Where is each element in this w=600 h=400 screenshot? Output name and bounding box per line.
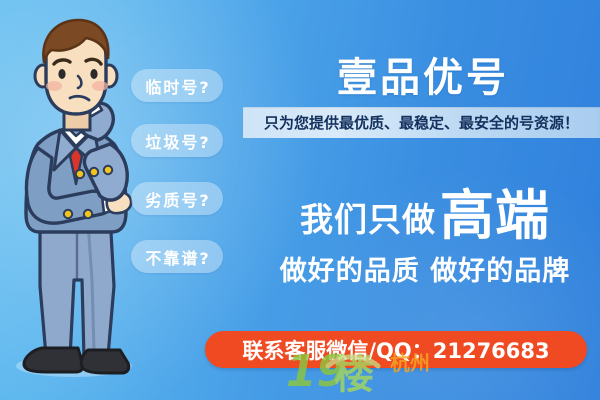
question-pill-label: 不靠谱? xyxy=(143,245,210,269)
contact-label: 联系客服微信/QQ：21276683 xyxy=(242,335,549,365)
question-pill-junk: 垃圾号? xyxy=(131,124,223,157)
question-pill-inferior: 劣质号? xyxy=(131,182,223,215)
question-pill-unreliable: 不靠谱? xyxy=(131,240,223,273)
brand-subtitle-band: 只为您提供最优质、最稳定、最安全的号资源！ xyxy=(243,107,600,138)
brand-title: 壹品优号 xyxy=(243,46,600,102)
slogan-primary: 我们只做 高端 xyxy=(250,186,600,248)
question-pill-temporary: 临时号? xyxy=(131,69,223,102)
question-pill-label: 劣质号? xyxy=(143,187,210,211)
slogan-secondary: 做好的品质 做好的品牌 xyxy=(250,250,600,286)
question-pill-label: 临时号? xyxy=(143,74,210,98)
slogan-emphasis-text: 高端 xyxy=(440,189,550,243)
promo-banner: 临时号? 垃圾号? 劣质号? 不靠谱? 壹品优号 只为您提供最优质、最稳定、最安… xyxy=(0,0,600,400)
brand-subtitle-text: 只为您提供最优质、最稳定、最安全的号资源！ xyxy=(264,112,579,133)
question-pill-label: 垃圾号? xyxy=(143,129,210,153)
thinking-businessman-illustration xyxy=(2,18,152,386)
contact-bar[interactable]: 联系客服微信/QQ：21276683 xyxy=(205,331,587,368)
slogan-lead-text: 我们只做 xyxy=(300,203,436,236)
